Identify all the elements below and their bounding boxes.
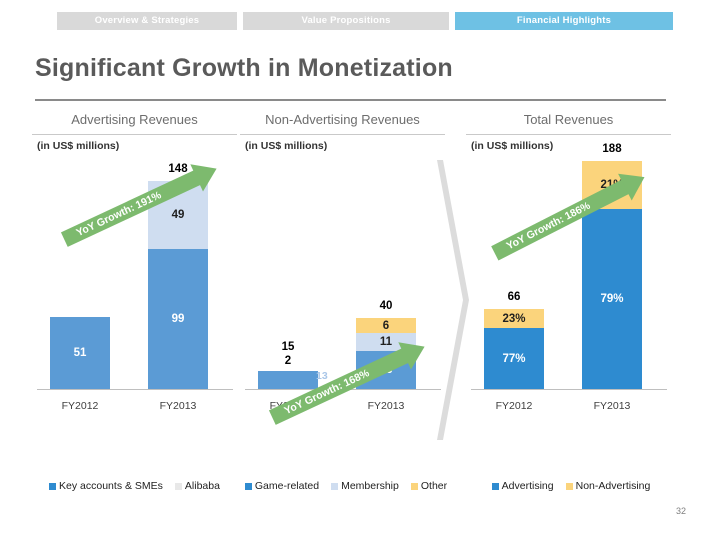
legend-swatch-icon [411,483,418,490]
legend-item-other[interactable]: Other [411,480,447,492]
tab-label: Value Propositions [301,15,390,26]
bar-total-label: 15 [258,341,318,353]
bar-segment-value: 23% [502,313,525,325]
bar-segment-game-related[interactable]: 13 [258,371,318,389]
legend-non-advertising: Game-related Membership Other [240,478,452,494]
legend-label: Other [421,480,447,492]
panel-units-label: (in US$ millions) [245,140,327,152]
x-axis-line [471,389,667,390]
panel-title: Total Revenues [466,112,671,127]
legend-label: Alibaba [185,480,220,492]
tab-label: Financial Highlights [517,15,611,26]
panel-units-label: (in US$ millions) [471,140,553,152]
bar-total-label: 66 [484,291,544,303]
bar-segment-value: 77% [502,353,525,365]
panel-divider [466,134,671,135]
bar-segment-key-accounts[interactable]: 51 [50,317,110,389]
bar-segment-value: 11 [380,336,392,348]
panel-title: Advertising Revenues [32,112,237,127]
legend-swatch-icon [331,483,338,490]
x-axis-label-fy2013: FY2013 [576,400,648,412]
panel-units-label: (in US$ millions) [37,140,119,152]
legend-item-advertising[interactable]: Advertising [492,480,554,492]
bar-column-fy2012[interactable]: 51 [50,317,110,389]
legend-label: Membership [341,480,399,492]
legend-swatch-icon [175,483,182,490]
bar-column-fy2013[interactable]: 148 49 99 [148,181,208,389]
tab-label: Overview & Strategies [95,15,200,26]
bar-segment-value: 6 [383,320,389,332]
legend-total-revenues: Advertising Non-Advertising [466,478,676,494]
tab-financial-highlights[interactable]: Financial Highlights [455,12,673,30]
panel-divider [32,134,237,135]
bar-segment-advertising[interactable]: 77% [484,328,544,389]
legend-swatch-icon [492,483,499,490]
tab-value-propositions[interactable]: Value Propositions [243,12,449,30]
bar-segment-non-advertising[interactable]: 23% [484,309,544,328]
legend-label: Key accounts & SMEs [59,480,163,492]
x-axis-label-fy2013: FY2013 [142,400,214,412]
page-number: 32 [676,506,686,516]
plot-area: 66 23% 77% 188 21% 79% FY2012 FY2013 [466,160,671,432]
bar-total-label: 40 [356,300,416,312]
bar-total-label: 188 [582,143,642,155]
x-axis-line [37,389,233,390]
bar-segment-key-accounts[interactable]: 99 [148,249,208,389]
legend-item-membership[interactable]: Membership [331,480,399,492]
bar-segment-membership-value: 13 [316,370,328,382]
chart-panel-non-advertising: Non-Advertising Revenues (in US$ million… [240,112,445,502]
legend-label: Advertising [502,480,554,492]
bar-segment-value: 51 [74,347,87,359]
bar-segment-advertising[interactable]: 79% [582,209,642,389]
title-divider [35,99,666,101]
legend-item-key-accounts[interactable]: Key accounts & SMEs [49,480,163,492]
legend-item-game-related[interactable]: Game-related [245,480,319,492]
legend-swatch-icon [49,483,56,490]
x-axis-label-fy2013: FY2013 [350,400,422,412]
section-navbar: Overview & Strategies Value Propositions… [0,12,720,30]
page-title: Significant Growth in Monetization [35,54,675,83]
legend-label: Non-Advertising [576,480,651,492]
bar-segment-game-value: 2 [258,355,318,367]
tab-overview-strategies[interactable]: Overview & Strategies [57,12,237,30]
x-axis-label-fy2012: FY2012 [44,400,116,412]
legend-item-non-advertising[interactable]: Non-Advertising [566,480,651,492]
legend-swatch-icon [566,483,573,490]
legend-label: Game-related [255,480,319,492]
x-axis-label-fy2012: FY2012 [478,400,550,412]
panel-title: Non-Advertising Revenues [240,112,445,127]
bar-segment-value: 49 [172,209,185,221]
panel-divider [240,134,445,135]
legend-swatch-icon [245,483,252,490]
bar-segment-value: 79% [600,293,623,305]
legend-item-alibaba[interactable]: Alibaba [175,480,220,492]
bar-column-fy2012[interactable]: 15 13 2 [258,371,318,389]
legend-advertising: Key accounts & SMEs Alibaba [32,478,237,494]
bar-segment-value: 99 [172,313,185,325]
bar-column-fy2012[interactable]: 66 23% 77% [484,309,544,389]
bar-segment-other[interactable]: 6 [356,318,416,333]
